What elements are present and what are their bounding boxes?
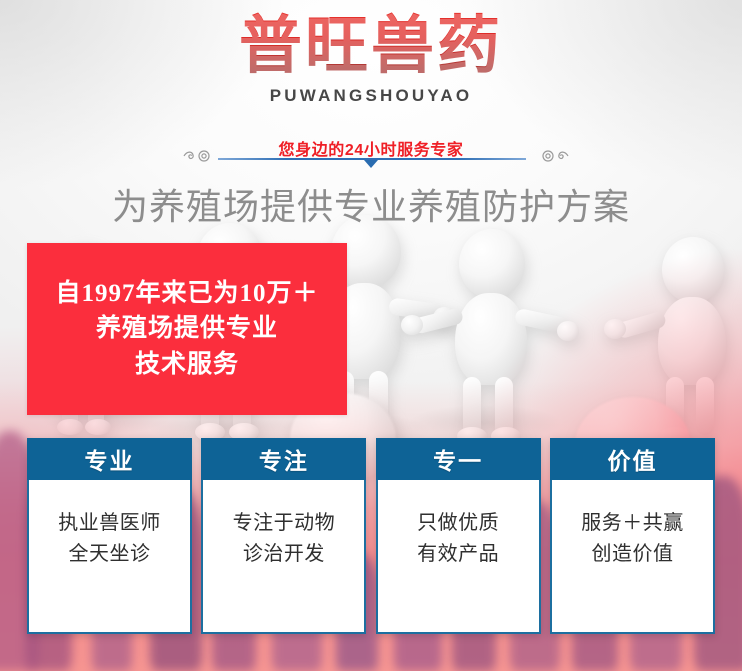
value-card-zhuanzhu[interactable]: 专注 专注于动物 诊治开发 <box>201 438 366 634</box>
claim-box: 自1997年来已为10万＋ 养殖场提供专业 技术服务 <box>27 243 347 415</box>
card-line-2: 创造价值 <box>591 539 673 570</box>
card-line-1: 服务＋共赢 <box>581 508 684 539</box>
card-body: 只做优质 有效产品 <box>376 480 541 634</box>
promo-banner: 普旺兽药 PUWANGSHOUYAO 您身边的24小时服务专家 为养殖场提供专业… <box>0 0 742 671</box>
card-body: 专注于动物 诊治开发 <box>201 480 366 634</box>
value-card-jiazhi[interactable]: 价值 服务＋共赢 创造价值 <box>550 438 715 634</box>
card-title: 专一 <box>376 438 541 480</box>
card-title: 专业 <box>27 438 192 480</box>
card-body: 执业兽医师 全天坐诊 <box>27 480 192 634</box>
card-line-2: 有效产品 <box>417 539 499 570</box>
card-line-1: 执业兽医师 <box>58 508 161 539</box>
claim-line-3: 技术服务 <box>135 347 239 383</box>
value-card-zhuanye[interactable]: 专业 执业兽医师 全天坐诊 <box>27 438 192 634</box>
card-line-1: 只做优质 <box>417 508 499 539</box>
caret-down-icon <box>364 160 378 168</box>
page-title: 普旺兽药 <box>0 10 742 82</box>
brand-pinyin: PUWANGSHOUYAO <box>0 86 742 106</box>
card-title: 专注 <box>201 438 366 480</box>
claim-line-2: 养殖场提供专业 <box>96 311 278 347</box>
slogan-text: 您身边的24小时服务专家 <box>0 136 742 160</box>
headline-text: 为养殖场提供专业养殖防护方案 <box>0 178 742 230</box>
card-line-1: 专注于动物 <box>233 508 336 539</box>
claim-line-1: 自1997年来已为10万＋ <box>55 276 318 312</box>
value-card-list: 专业 执业兽医师 全天坐诊 专注 专注于动物 诊治开发 专一 只做优质 有效产品… <box>0 438 742 634</box>
slogan-band: 您身边的24小时服务专家 <box>0 136 742 176</box>
value-card-zhuanyi[interactable]: 专一 只做优质 有效产品 <box>376 438 541 634</box>
card-line-2: 全天坐诊 <box>69 539 151 570</box>
card-line-2: 诊治开发 <box>243 539 325 570</box>
card-body: 服务＋共赢 创造价值 <box>550 480 715 634</box>
card-title: 价值 <box>550 438 715 480</box>
